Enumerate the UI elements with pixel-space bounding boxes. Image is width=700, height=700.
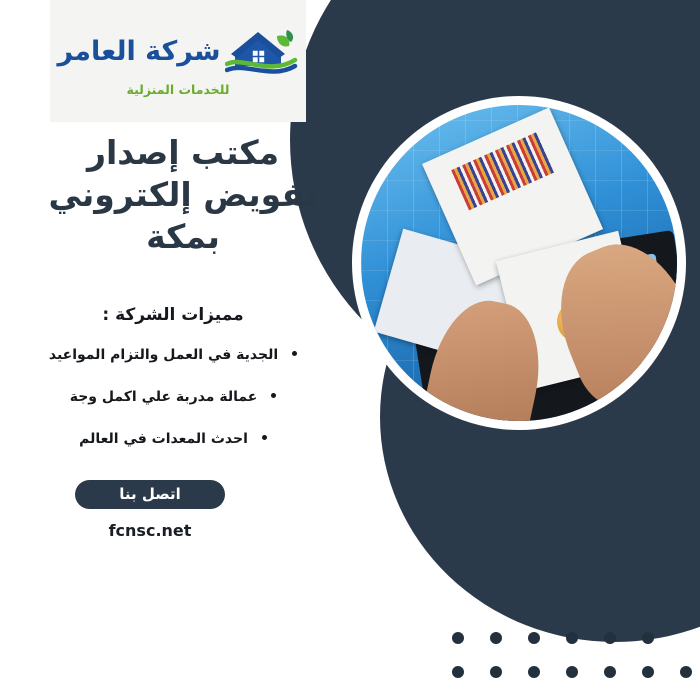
logo-company-name: شركة العامر <box>57 38 220 65</box>
list-item-label: الجدية في العمل والتزام المواعيد <box>49 347 278 363</box>
logo-subtitle: للخدمات المنزلية <box>127 82 230 97</box>
cta-section: اتصل بنا fcnsc.net <box>75 480 225 540</box>
list-item-label: عمالة مدربة علي اكمل وجة <box>70 389 258 405</box>
dot <box>566 666 578 678</box>
list-item: عمالة مدربة علي اكمل وجة <box>38 389 308 405</box>
headline-line-1: مكتب إصدار <box>38 132 328 174</box>
dot <box>490 666 502 678</box>
headline-line-3: بمكة <box>38 216 328 258</box>
dot <box>528 632 540 644</box>
page-title: مكتب إصدار تفويض إلكتروني بمكة <box>38 132 328 258</box>
dot-row <box>452 666 692 678</box>
hero-photo-ring <box>352 96 686 430</box>
contact-us-button[interactable]: اتصل بنا <box>75 480 225 509</box>
logo-block: شركة العامر للخدمات المنزلية <box>50 0 306 122</box>
features-list: الجدية في العمل والتزام المواعيد عمالة م… <box>38 347 308 447</box>
dot <box>452 632 464 644</box>
list-item: الجدية في العمل والتزام المواعيد <box>38 347 308 363</box>
decorative-dot-grid <box>452 610 692 678</box>
dot-row <box>452 632 692 644</box>
dot <box>680 666 692 678</box>
headline-line-2: تفويض إلكتروني <box>38 174 328 216</box>
house-with-leaf-icon <box>225 24 299 80</box>
dot <box>604 632 616 644</box>
dot <box>452 666 464 678</box>
dot <box>566 632 578 644</box>
list-item: احدث المعدات في العالم <box>38 431 308 447</box>
dot <box>528 666 540 678</box>
website-url[interactable]: fcnsc.net <box>75 521 225 540</box>
bullet-icon <box>271 393 276 398</box>
hero-photo <box>361 105 677 421</box>
features-title: مميزات الشركة : <box>38 305 308 325</box>
dot <box>642 632 654 644</box>
list-item-label: احدث المعدات في العالم <box>79 431 248 447</box>
poster-canvas: شركة العامر للخدمات المنزلية مكتب إصدار … <box>0 0 700 700</box>
features-section: مميزات الشركة : الجدية في العمل والتزام … <box>38 305 308 473</box>
dot <box>490 632 502 644</box>
dot <box>604 666 616 678</box>
dot <box>642 666 654 678</box>
bullet-icon <box>292 351 297 356</box>
bullet-icon <box>262 435 267 440</box>
